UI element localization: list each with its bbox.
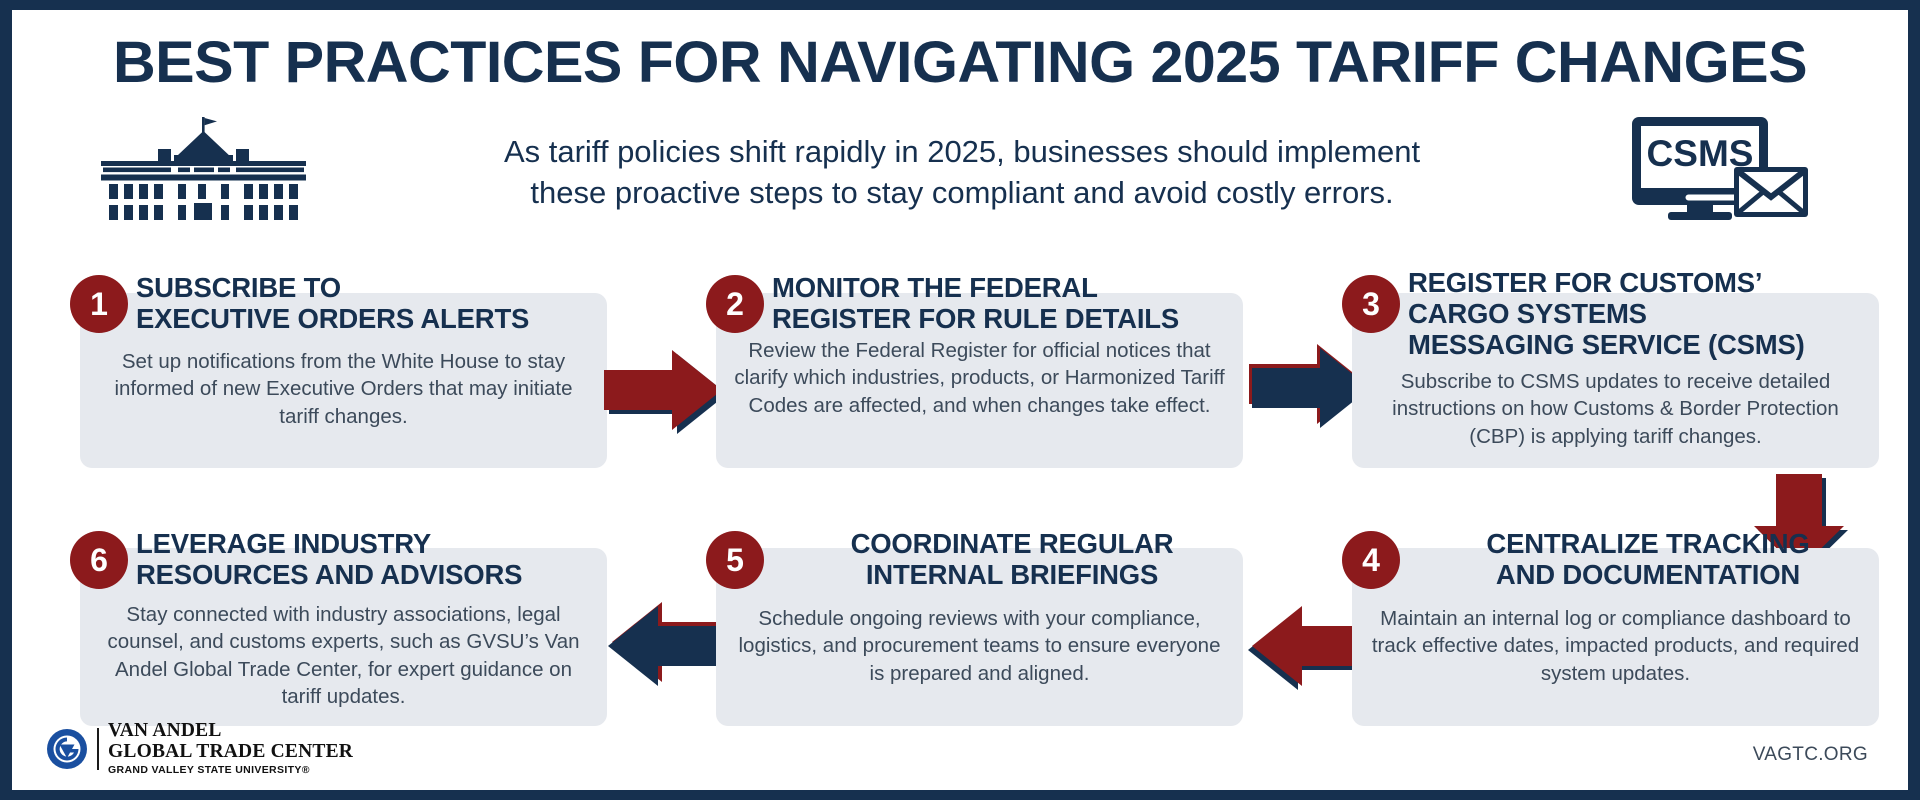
step-2-body: Review the Federal Register for official… [730, 337, 1229, 419]
infographic-page: BEST PRACTICES FOR NAVIGATING 2025 TARIF… [0, 0, 1920, 800]
step-6-number-badge: 6 [70, 531, 128, 589]
logo-text: VAN ANDEL GLOBAL TRADE CENTER GRAND VALL… [108, 721, 353, 776]
step-2-heading-line-1: MONITOR THE FEDERAL [772, 273, 1252, 304]
logo-divider [97, 728, 99, 770]
step-3-heading: REGISTER FOR CUSTOMS’ CARGO SYSTEMS MESS… [1408, 268, 1888, 360]
subtitle-line-2: these proactive steps to stay compliant … [342, 173, 1582, 214]
step-5-number-badge: 5 [706, 531, 764, 589]
step-4-heading-line-1: CENTRALIZE TRACKING [1408, 529, 1888, 560]
step-2-heading-line-2: REGISTER FOR RULE DETAILS [772, 304, 1252, 335]
step-6-body: Stay connected with industry association… [94, 601, 593, 710]
white-house-icon [74, 115, 334, 220]
step-3-heading-line-3: MESSAGING SERVICE (CSMS) [1408, 330, 1888, 361]
logo-line-1: VAN ANDEL [108, 721, 353, 741]
step-1-body: Set up notifications from the White Hous… [94, 348, 593, 430]
arrow-step1-to-step2 [596, 342, 732, 434]
step-6-heading: LEVERAGE INDUSTRY RESOURCES AND ADVISORS [136, 529, 616, 591]
website-url[interactable]: VAGTC.ORG [1753, 744, 1868, 766]
step-4-number-badge: 4 [1342, 531, 1400, 589]
step-3-body: Subscribe to CSMS updates to receive det… [1366, 368, 1865, 450]
step-2-heading: MONITOR THE FEDERAL REGISTER FOR RULE DE… [772, 273, 1252, 335]
logo-line-3: GRAND VALLEY STATE UNIVERSITY® [108, 764, 353, 776]
step-1-number-badge: 1 [70, 275, 128, 333]
page-subtitle: As tariff policies shift rapidly in 2025… [342, 132, 1582, 214]
step-5-heading: COORDINATE REGULAR INTERNAL BRIEFINGS [772, 529, 1252, 591]
step-5-heading-line-2: INTERNAL BRIEFINGS [772, 560, 1252, 591]
step-4-body: Maintain an internal log or compliance d… [1366, 605, 1865, 687]
step-5-heading-line-1: COORDINATE REGULAR [772, 529, 1252, 560]
step-2-number-badge: 2 [706, 275, 764, 333]
arrow-step5-to-step6 [598, 598, 734, 690]
vagtc-logo[interactable]: VAN ANDEL GLOBAL TRADE CENTER GRAND VALL… [46, 721, 353, 776]
page-title: BEST PRACTICES FOR NAVIGATING 2025 TARIF… [12, 34, 1908, 92]
step-4-heading-line-2: AND DOCUMENTATION [1408, 560, 1888, 591]
step-5-body: Schedule ongoing reviews with your compl… [730, 605, 1229, 687]
step-1-heading-line-1: SUBSCRIBE TO [136, 273, 616, 304]
step-6-heading-line-1: LEVERAGE INDUSTRY [136, 529, 616, 560]
csms-monitor-email-icon: CSMS [1624, 115, 1814, 220]
step-1-heading: SUBSCRIBE TO EXECUTIVE ORDERS ALERTS [136, 273, 616, 335]
step-6-heading-line-2: RESOURCES AND ADVISORS [136, 560, 616, 591]
logo-line-2: GLOBAL TRADE CENTER [108, 742, 353, 762]
step-1-heading-line-2: EXECUTIVE ORDERS ALERTS [136, 304, 616, 335]
gvsu-shield-icon [46, 728, 88, 770]
step-4-heading: CENTRALIZE TRACKING AND DOCUMENTATION [1408, 529, 1888, 591]
step-3-heading-line-2: CARGO SYSTEMS [1408, 299, 1888, 330]
subtitle-line-1: As tariff policies shift rapidly in 2025… [342, 132, 1582, 173]
step-3-heading-line-1: REGISTER FOR CUSTOMS’ [1408, 268, 1888, 299]
infographic-canvas: BEST PRACTICES FOR NAVIGATING 2025 TARIF… [12, 10, 1908, 790]
step-3-number-badge: 3 [1342, 275, 1400, 333]
